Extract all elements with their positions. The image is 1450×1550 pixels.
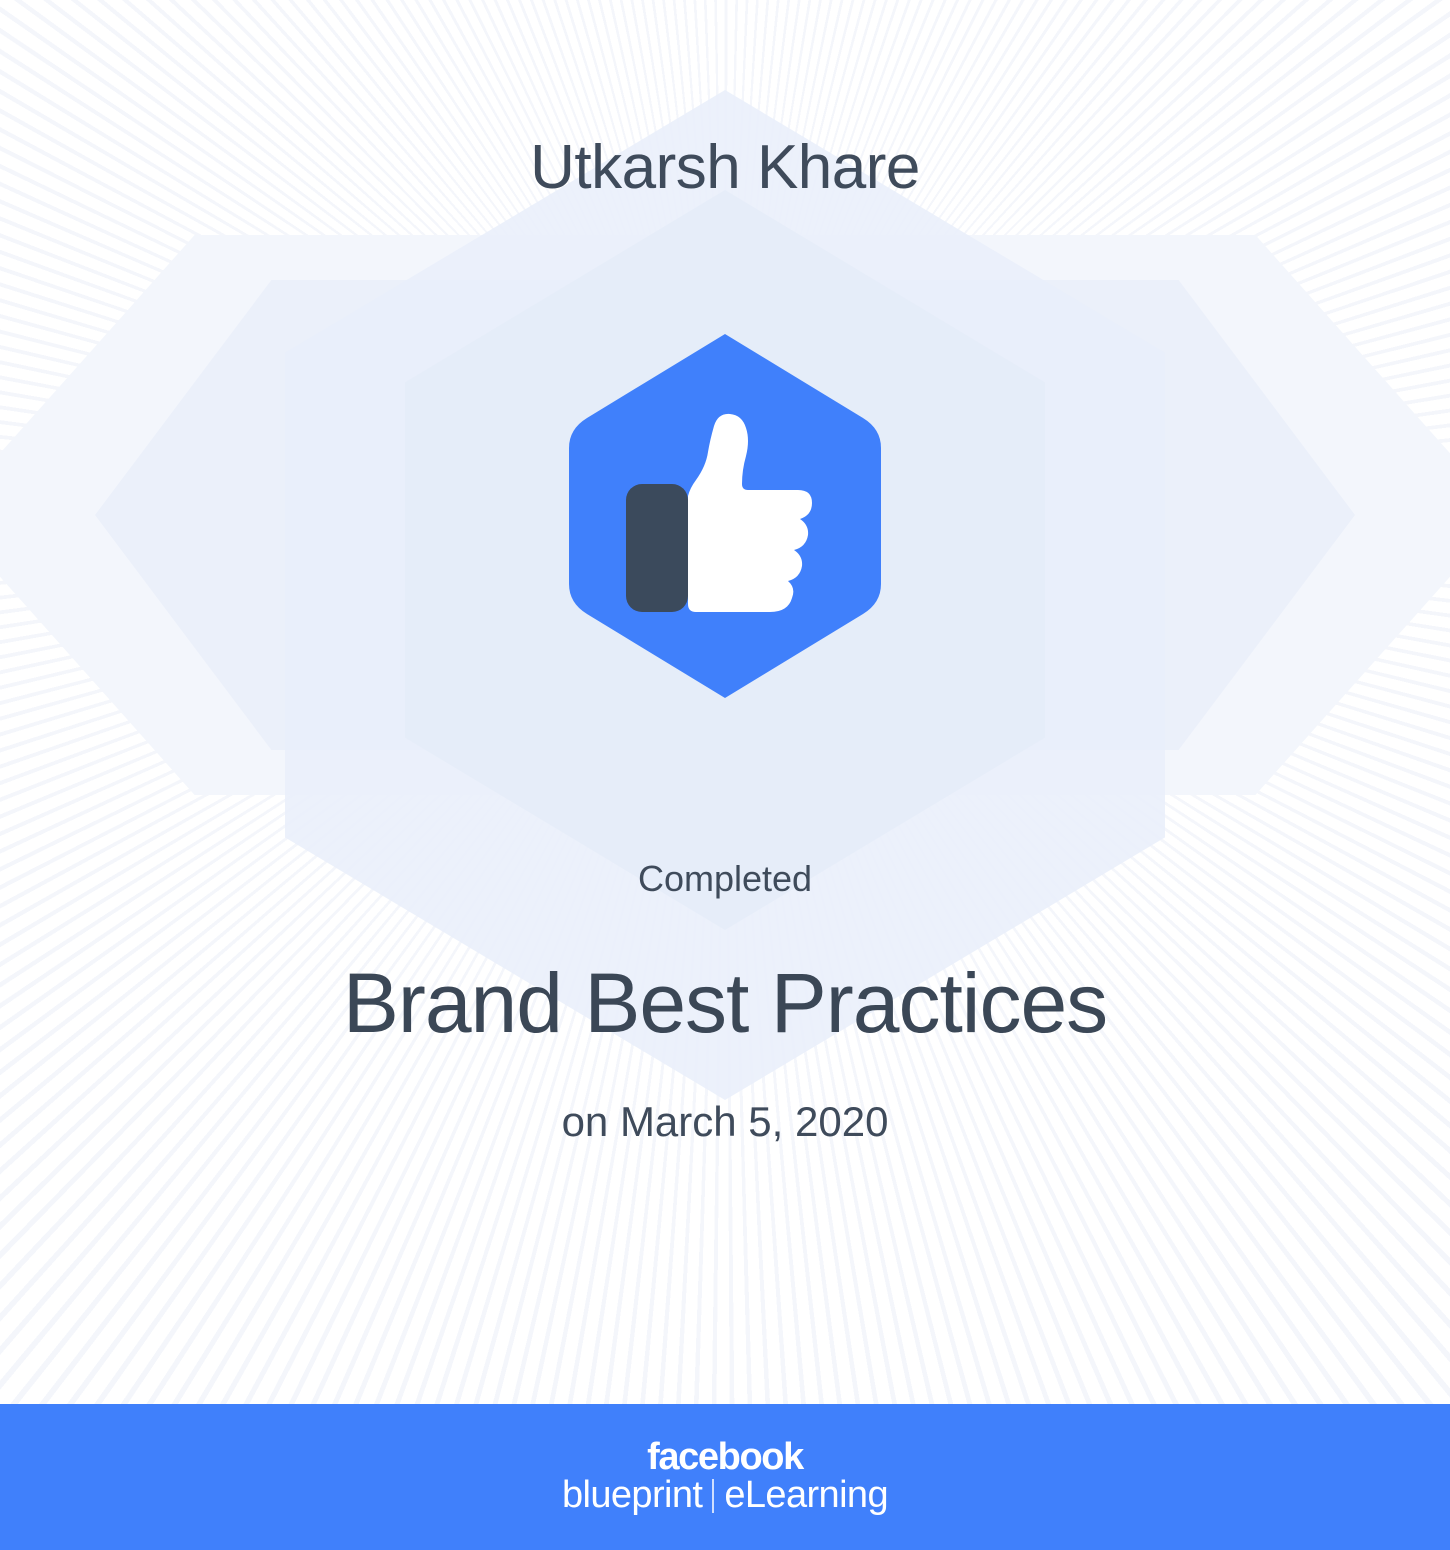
certificate-content: Utkarsh Khare Completed Brand Best Pract…: [0, 0, 1450, 1550]
brand-blueprint-label: blueprint: [562, 1476, 702, 1516]
completion-date: on March 5, 2020: [0, 1098, 1450, 1146]
footer-brand-bar: facebook blueprint eLearning: [0, 1404, 1450, 1550]
brand-elearning-label: eLearning: [724, 1476, 888, 1516]
recipient-name: Utkarsh Khare: [0, 132, 1450, 203]
certificate-canvas: Utkarsh Khare Completed Brand Best Pract…: [0, 0, 1450, 1550]
course-title: Brand Best Practices: [0, 955, 1450, 1052]
thumbs-up-icon: [622, 408, 828, 624]
achievement-badge: [563, 330, 887, 702]
brand-subtitle-row: blueprint eLearning: [562, 1476, 888, 1516]
brand-facebook-wordmark: facebook: [647, 1438, 803, 1477]
status-label: Completed: [0, 858, 1450, 900]
brand-divider-icon: [712, 1479, 714, 1513]
